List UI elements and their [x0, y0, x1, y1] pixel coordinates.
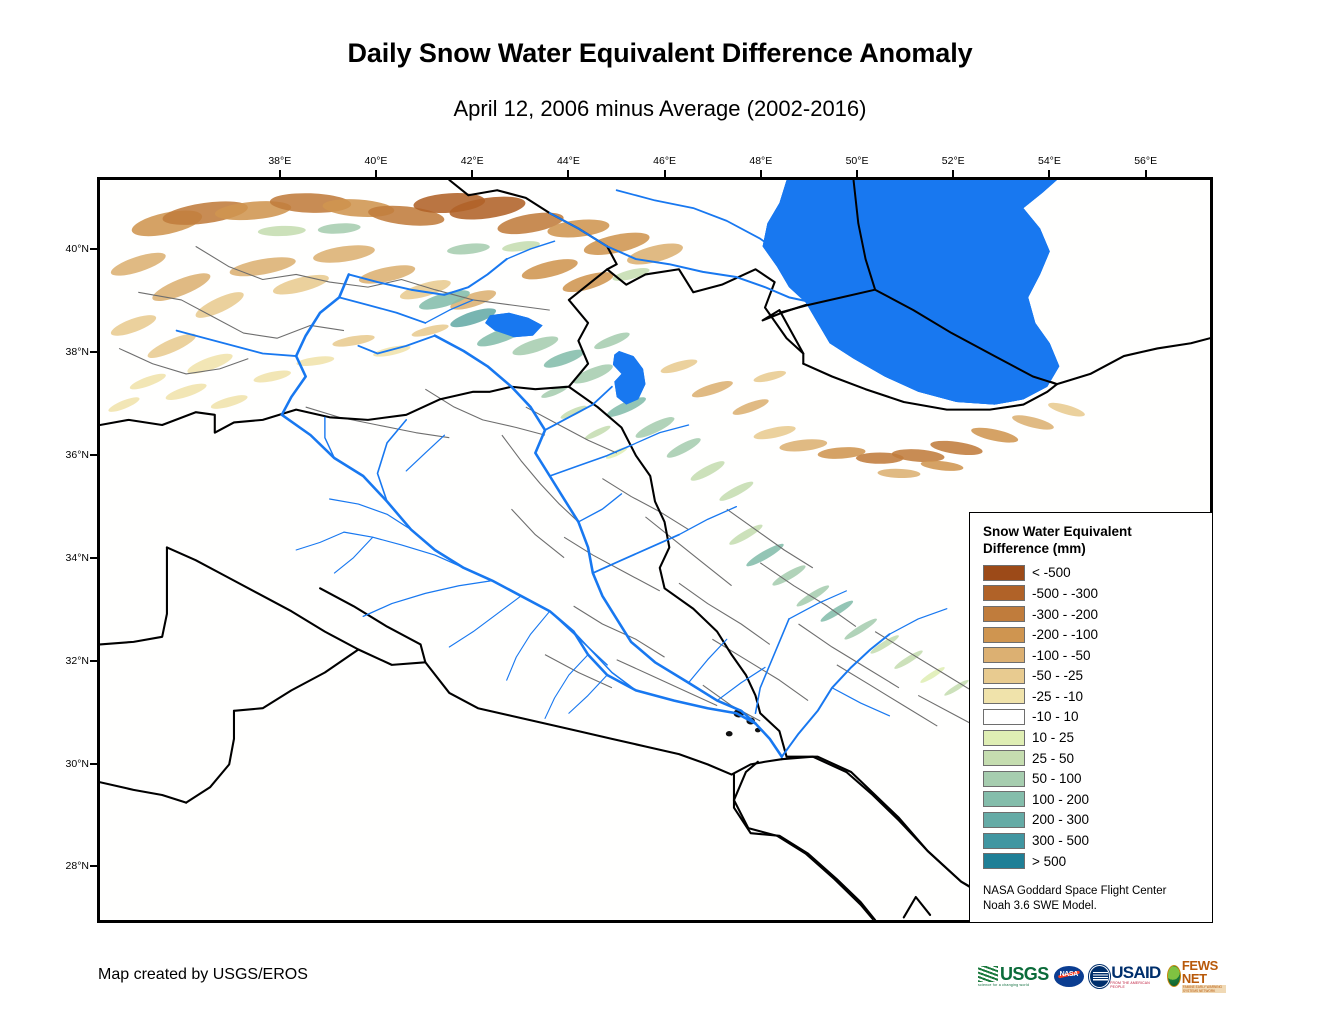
river-iran-stream-7 [689, 639, 727, 682]
usgs-logo-tagline: science for a changing world [978, 983, 1029, 987]
legend-swatch [983, 647, 1025, 663]
swe-anomaly-patch [317, 222, 361, 235]
admin-boundary [511, 509, 564, 558]
river-wadi-4 [507, 611, 550, 680]
legend-row: > 500 [983, 851, 1212, 872]
national-border [186, 711, 234, 803]
admin-boundary [645, 517, 731, 586]
page-subtitle: April 12, 2006 minus Average (2002-2016) [0, 96, 1320, 122]
lon-tick-mark [1145, 170, 1147, 177]
swe-anomaly-patch [877, 468, 920, 479]
lat-tick-mark [90, 248, 97, 250]
legend-swatch [983, 750, 1025, 766]
lat-tick-mark [90, 865, 97, 867]
legend-label: -25 - -10 [1032, 689, 1083, 704]
national-border [904, 897, 930, 917]
legend-label: 50 - 100 [1032, 771, 1082, 786]
admin-boundary [679, 583, 770, 644]
lat-tick-mark [90, 763, 97, 765]
usgs-wave-icon [978, 966, 998, 982]
national-border [1057, 338, 1210, 384]
legend-swatch [983, 812, 1025, 828]
swe-anomaly-patch [561, 268, 616, 296]
fews-globe-icon [1167, 965, 1181, 987]
legend-label: 300 - 500 [1032, 833, 1089, 848]
legend-row: -25 - -10 [983, 686, 1212, 707]
lon-tick-mark [856, 170, 858, 177]
swe-anomaly-patch [540, 383, 569, 400]
lon-tick-label: 44°E [557, 155, 580, 167]
legend-swatch [983, 730, 1025, 746]
fews-logo-text: FEWS NET [1182, 959, 1226, 985]
swe-anomaly-patch [633, 414, 676, 442]
swe-anomaly-patch [727, 522, 764, 548]
admin-boundary [502, 435, 578, 522]
swe-anomaly-patch [164, 380, 208, 403]
legend-swatch [983, 853, 1025, 869]
swe-anomaly-patch [665, 435, 703, 461]
river-wadi-1 [344, 532, 464, 568]
river-iran-stream-4 [889, 609, 946, 634]
river-lesser-zab [550, 445, 631, 476]
usgs-logo: USGS science for a changing world [978, 965, 1049, 987]
lon-tick-label: 48°E [749, 155, 772, 167]
admin-boundary [119, 348, 248, 373]
river-wadi-6 [569, 675, 607, 713]
admin-boundary [760, 563, 856, 627]
lon-tick-mark [1048, 170, 1050, 177]
swe-anomaly-patch [210, 392, 249, 411]
river-wadi-3 [449, 596, 521, 647]
lon-tick-label: 38°E [268, 155, 291, 167]
legend-row: -100 - -50 [983, 645, 1212, 666]
nasa-meatball-icon: NASA [1054, 966, 1084, 987]
legend-row: 50 - 100 [983, 768, 1212, 789]
swe-anomaly-patch [659, 357, 698, 376]
lat-tick-mark [90, 454, 97, 456]
swe-anomaly-patch [542, 346, 586, 371]
legend-label: 10 - 25 [1032, 730, 1074, 745]
legend-swatch [983, 668, 1025, 684]
lon-tick-mark [760, 170, 762, 177]
agency-logos: USGS science for a changing world NASA U… [978, 957, 1216, 995]
swe-anomaly-patch [1047, 400, 1086, 419]
river-wadi-7 [296, 532, 344, 550]
swe-anomaly-patch [520, 255, 579, 284]
admin-boundary [425, 389, 545, 435]
usaid-logo: USAID FROM THE AMERICAN PEOPLE [1089, 964, 1162, 989]
lake-urmia-top [613, 351, 646, 405]
map-legend: Snow Water Equivalent Difference (mm) < … [969, 512, 1213, 923]
lat-tick-mark [90, 557, 97, 559]
legend-label: -100 - -50 [1032, 648, 1091, 663]
swe-anomaly-patch [970, 425, 1019, 446]
lon-tick-label: 52°E [942, 155, 965, 167]
usaid-logo-text: USAID [1111, 964, 1162, 981]
swe-anomaly-patch [690, 378, 734, 401]
legend-row: 200 - 300 [983, 810, 1212, 831]
legend-label: -10 - 10 [1032, 709, 1079, 724]
nasa-logo-text: NASA [1060, 971, 1078, 978]
swe-anomaly-patch [501, 239, 540, 253]
river-wadi-hauran [363, 581, 492, 617]
admin-boundary [837, 665, 937, 726]
lon-tick-mark [471, 170, 473, 177]
swe-anomaly-patch [109, 311, 159, 340]
mesopotamian-marsh-patch [726, 731, 733, 736]
swe-anomaly-patch [753, 369, 787, 385]
river-euphrates-karasu [339, 297, 425, 323]
swe-anomaly-patch [779, 437, 828, 453]
swe-anomaly-patch [571, 361, 615, 388]
fews-logo-tagline: FAMINE EARLY WARNING SYSTEMS NETWORK [1182, 985, 1226, 993]
national-border [234, 649, 358, 710]
river-iran-stream-1 [679, 507, 736, 535]
legend-label: 25 - 50 [1032, 751, 1074, 766]
lon-tick-mark [952, 170, 954, 177]
lon-tick-label: 42°E [461, 155, 484, 167]
swe-anomaly-patch [559, 403, 588, 421]
swe-anomaly-patch [819, 598, 855, 624]
legend-swatch [983, 606, 1025, 622]
lon-tick-label: 54°E [1038, 155, 1061, 167]
lat-tick-mark [90, 660, 97, 662]
lat-tick-label: 36°N [55, 449, 89, 461]
usaid-seal-icon [1089, 965, 1111, 988]
lon-tick-label: 56°E [1134, 155, 1157, 167]
river-tigris [435, 336, 782, 757]
swe-anomaly-patch [193, 287, 247, 322]
legend-label: -200 - -100 [1032, 627, 1098, 642]
legend-row: < -500 [983, 563, 1212, 584]
legend-swatch [983, 791, 1025, 807]
admin-boundary [799, 624, 899, 688]
swe-anomaly-patch [593, 329, 632, 352]
legend-title-line1: Snow Water Equivalent [983, 523, 1212, 540]
swe-anomaly-patch [128, 371, 167, 393]
swe-anomaly-patch [1011, 412, 1055, 432]
lon-tick-mark [664, 170, 666, 177]
river-syria-stream [406, 435, 444, 471]
river-euphrates-branch [574, 632, 636, 691]
swe-anomaly-patch [718, 479, 756, 504]
lon-tick-label: 46°E [653, 155, 676, 167]
legend-swatch [983, 771, 1025, 787]
legend-source-line2: Noah 3.6 SWE Model. [983, 899, 1166, 914]
page-title: Daily Snow Water Equivalent Difference A… [0, 38, 1320, 69]
legend-class-list: < -500-500 - -300-300 - -200-200 - -100-… [983, 563, 1212, 872]
river-iran-stream-6 [717, 667, 765, 700]
swe-anomaly-patch [744, 541, 785, 569]
river-karkheh [755, 619, 789, 713]
swe-anomaly-patch [149, 268, 213, 306]
caspian-sea-overlay [763, 180, 1060, 405]
swe-anomaly-patch [731, 396, 770, 418]
lat-tick-label: 40°N [55, 243, 89, 255]
legend-title: Snow Water Equivalent Difference (mm) [983, 523, 1212, 558]
swe-anomaly-patch [107, 395, 141, 415]
lat-tick-label: 38°N [55, 346, 89, 358]
swe-anomaly-patch [332, 333, 376, 349]
swe-anomaly-patch [271, 271, 330, 299]
swe-anomaly-patch [843, 616, 879, 642]
lon-tick-mark [279, 170, 281, 177]
legend-row: -300 - -200 [983, 604, 1212, 625]
legend-source-line1: NASA Goddard Space Flight Center [983, 884, 1166, 899]
legend-row: 100 - 200 [983, 789, 1212, 810]
lat-tick-label: 34°N [55, 552, 89, 564]
swe-anomaly-patch [689, 458, 727, 484]
swe-anomaly-patch [312, 242, 376, 266]
swe-anomaly-patch [447, 242, 491, 257]
swe-anomaly-patch [109, 248, 168, 280]
lon-tick-label: 50°E [846, 155, 869, 167]
swe-anomaly-patch [253, 368, 292, 385]
usgs-logo-text: USGS [1000, 965, 1049, 983]
legend-title-line2: Difference (mm) [983, 540, 1212, 557]
swe-anomaly-patch [770, 563, 807, 589]
legend-label: -500 - -300 [1032, 586, 1098, 601]
river-adhaim [578, 494, 621, 522]
swe-anomaly-patch [583, 424, 611, 442]
nasa-logo: NASA [1054, 966, 1084, 987]
swe-anomaly-patch [258, 225, 306, 237]
admin-boundary [574, 606, 665, 657]
legend-label: -50 - -25 [1032, 668, 1083, 683]
legend-label: 100 - 200 [1032, 792, 1089, 807]
river-wadi-8 [334, 537, 372, 573]
legend-row: 25 - 50 [983, 748, 1212, 769]
legend-swatch [983, 565, 1025, 581]
lon-tick-mark [567, 170, 569, 177]
usaid-logo-tagline: FROM THE AMERICAN PEOPLE [1110, 981, 1162, 989]
legend-row: -10 - 10 [983, 707, 1212, 728]
legend-swatch [983, 627, 1025, 643]
map-credit: Map created by USGS/EROS [98, 966, 308, 984]
legend-row: -200 - -100 [983, 624, 1212, 645]
admin-boundary [875, 632, 975, 693]
national-border [100, 547, 167, 644]
swe-anomaly-patch [753, 423, 797, 442]
legend-row: 300 - 500 [983, 830, 1212, 851]
national-border [100, 782, 186, 802]
lon-tick-label: 40°E [365, 155, 388, 167]
legend-swatch [983, 585, 1025, 601]
lat-tick-label: 30°N [55, 758, 89, 770]
legend-row: -50 - -25 [983, 666, 1212, 687]
legend-swatch [983, 688, 1025, 704]
gulf-coast-arabia [734, 762, 873, 919]
river-wadi-5 [545, 655, 588, 719]
swe-anomaly-patch [185, 350, 234, 378]
lat-tick-label: 28°N [55, 860, 89, 872]
admin-boundary [306, 407, 450, 438]
lon-tick-mark [375, 170, 377, 177]
legend-swatch [983, 709, 1025, 725]
legend-label: -300 - -200 [1032, 607, 1098, 622]
legend-swatch [983, 833, 1025, 849]
river-khabur-trib [378, 420, 407, 502]
legend-row: 10 - 25 [983, 727, 1212, 748]
legend-source: NASA Goddard Space Flight Center Noah 3.… [983, 884, 1166, 914]
legend-label: 200 - 300 [1032, 812, 1089, 827]
fews-net-logo: FEWS NET FAMINE EARLY WARNING SYSTEMS NE… [1167, 959, 1226, 993]
admin-boundary [602, 479, 688, 530]
legend-label: < -500 [1032, 565, 1071, 580]
lat-tick-mark [90, 351, 97, 353]
lat-tick-label: 32°N [55, 655, 89, 667]
legend-row: -500 - -300 [983, 583, 1212, 604]
legend-label: > 500 [1032, 854, 1066, 869]
river-shatt-al-hillah [550, 611, 607, 665]
swe-anomaly-patch [919, 665, 946, 685]
